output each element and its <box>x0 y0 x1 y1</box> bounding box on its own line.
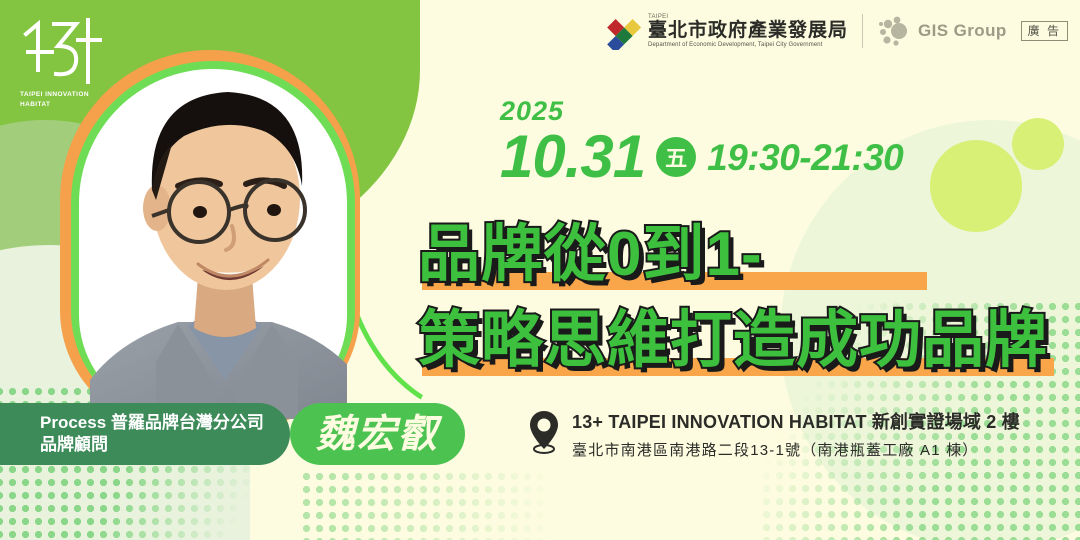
speaker-role-line-1: Process 普羅品牌台灣分公司 <box>40 412 264 434</box>
map-pin-icon <box>528 410 560 454</box>
event-year: 2025 <box>500 98 903 125</box>
speaker-role-pill: Process 普羅品牌台灣分公司 品牌顧問 <box>0 403 290 465</box>
speaker-name-badge: 魏宏叡 <box>290 403 465 465</box>
venue-name: 13+ TAIPEI INNOVATION HABITAT 新創實證場域 2 樓 <box>572 408 1020 434</box>
speaker-portrait-frame <box>60 40 390 440</box>
speaker-info: Process 普羅品牌台灣分公司 品牌顧問 魏宏叡 <box>22 403 465 465</box>
event-weekday-badge: 五 <box>656 137 696 177</box>
taipei-logo-name-en: Department of Economic Development, Taip… <box>648 42 848 48</box>
title-line-1: 品牌從0到1- <box>418 212 1068 298</box>
sponsor-logos: TAIPEI 臺北市政府產業發展局 Department of Economic… <box>603 12 1068 50</box>
speaker-portrait <box>60 40 390 440</box>
gis-group-logo: GIS Group <box>877 15 1007 47</box>
event-title: 品牌從0到1- 策略思維打造成功品牌 <box>418 212 1068 384</box>
event-banner: TAIPEI INNOVATION HABITAT <box>0 0 1080 540</box>
title-line-1-wrap: 品牌從0到1- <box>418 212 1068 298</box>
advertisement-badge: 廣 告 <box>1021 21 1068 41</box>
taipei-city-logo: TAIPEI 臺北市政府產業發展局 Department of Economic… <box>603 12 848 50</box>
event-date: 10.31 <box>500 127 645 187</box>
lime-circle-small <box>1012 118 1064 170</box>
venue-info: 13+ TAIPEI INNOVATION HABITAT 新創實證場域 2 樓… <box>528 408 1020 460</box>
venue-address: 臺北市南港區南港路二段13-1號（南港瓶蓋工廠 A1 棟） <box>572 439 1020 460</box>
speaker-role-line-2: 品牌顧問 <box>40 434 264 456</box>
speaker-name: 魏宏叡 <box>316 415 439 454</box>
taipei-city-diamond-logo-icon <box>603 12 641 50</box>
event-datetime: 2025 10.31 五 19:30-21:30 <box>500 98 903 187</box>
gis-group-dots-logo-icon <box>877 15 911 47</box>
gis-group-name: GIS Group <box>918 21 1007 41</box>
title-line-2-wrap: 策略思維打造成功品牌 <box>418 298 1068 384</box>
event-time: 19:30-21:30 <box>707 139 903 176</box>
halftone-dots-bottom-center <box>300 470 600 540</box>
taipei-logo-name-zh: 臺北市政府產業發展局 <box>648 21 848 40</box>
title-line-2: 策略思維打造成功品牌 <box>418 298 1068 384</box>
logo-divider <box>862 14 863 48</box>
